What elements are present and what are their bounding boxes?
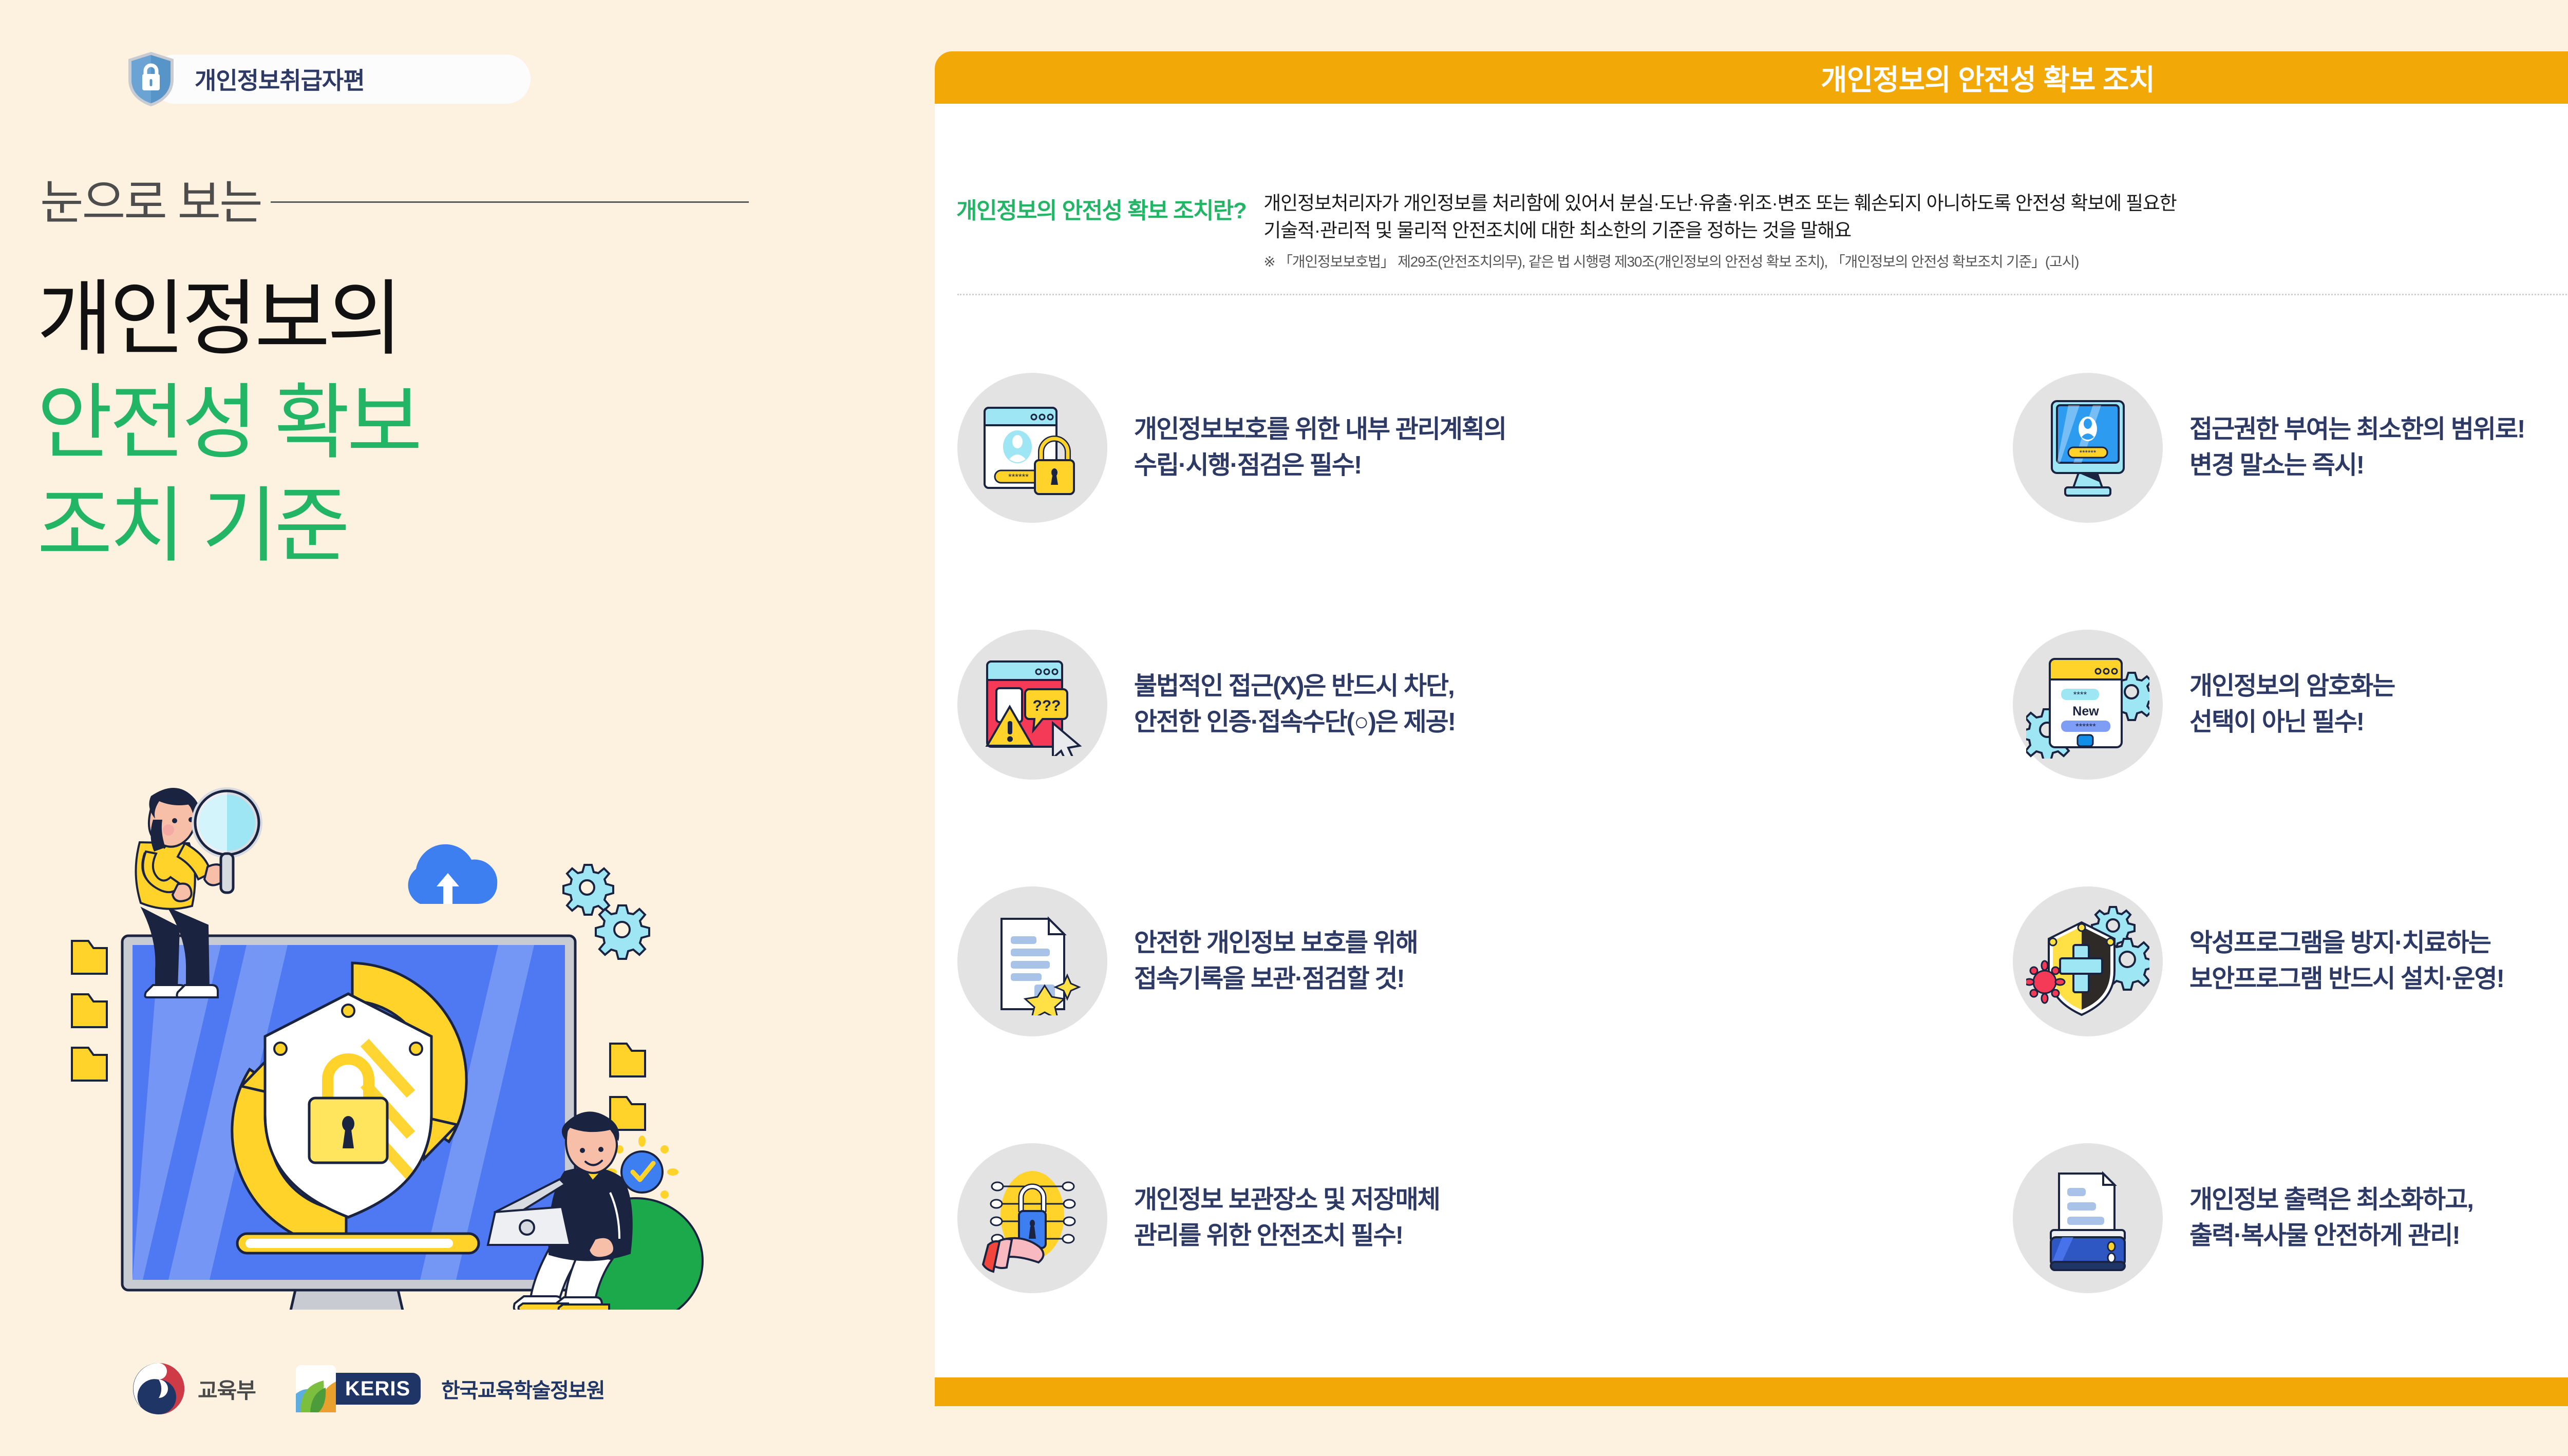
eyebrow-row: 눈으로 보는 <box>40 164 749 233</box>
measures-grid: ****** 개인정보보호를 위한 내부 관리계획의 수립·시행·점검은 필수! <box>955 319 2568 1347</box>
measure-item: 개인정보 출력은 최소화하고, 출력·복사물 안전하게 관리! <box>2011 1090 2568 1347</box>
svg-text:******: ****** <box>1008 472 1029 482</box>
browser-user-password-lock-icon: ****** <box>955 371 1109 525</box>
title-line-3: 조치 기준 <box>37 474 807 578</box>
measure-text: 개인정보 보관장소 및 저장매체 관리를 위한 안전조치 필수! <box>1134 1183 1440 1253</box>
measure-line-1: 개인정보의 암호화는 <box>2189 669 2394 704</box>
content-panel: 개인정보의 안전성 확보 조치 개인정보의 안전성 확보 조치란? 개인정보처리… <box>935 51 2568 1428</box>
eyebrow-text: 눈으로 보는 <box>40 164 261 233</box>
ministry-of-education-logo: 교육부 <box>131 1361 256 1416</box>
measure-line-1: 개인정보보호를 위한 내부 관리계획의 <box>1134 412 1506 447</box>
taegeuk-icon <box>131 1361 186 1416</box>
measure-item: ****** 접근권한 부여는 최소한의 범위로! 변경 말소는 즉시! <box>2011 319 2568 576</box>
svg-text:New: New <box>2072 704 2099 718</box>
shield-lock-icon <box>126 50 176 108</box>
intro-line-2: 기술적·관리적 및 물리적 안전조치에 대한 최소한의 기준을 정하는 것을 말… <box>1263 217 2568 244</box>
measure-line-1: 악성프로그램을 방지·치료하는 <box>2189 926 2504 961</box>
intro-divider <box>957 294 2568 295</box>
measure-line-2: 접속기록을 보관·점검할 것! <box>1134 962 1418 997</box>
intro-line-1: 개인정보처리자가 개인정보를 처리함에 있어서 분실·도난·유출·위조·변조 또… <box>1263 190 2568 217</box>
measure-item: 개인정보 보관장소 및 저장매체 관리를 위한 안전조치 필수! <box>955 1090 1965 1347</box>
infographic-page: 개인정보취급자편 눈으로 보는 개인정보의 안전성 확보 조치 기준 <box>0 0 2568 1456</box>
shield-virus-gear-icon <box>2011 884 2165 1038</box>
page-title: 개인정보의 안전성 확보 조치 기준 <box>37 267 807 578</box>
intro-question-label: 개인정보의 안전성 확보 조치란? <box>956 190 1246 225</box>
measure-line-2: 안전한 인증·접속수단(○)은 제공! <box>1134 705 1455 740</box>
measure-line-1: 안전한 개인정보 보호를 위해 <box>1134 926 1418 961</box>
measure-text: 악성프로그램을 방지·치료하는 보안프로그램 반드시 설치·운영! <box>2189 926 2504 996</box>
ministry-of-education-label: 교육부 <box>198 1373 256 1405</box>
keris-caption: 한국교육학술정보원 <box>441 1374 605 1404</box>
svg-text:******: ****** <box>2080 448 2097 457</box>
measure-line-2: 보안프로그램 반드시 설치·운영! <box>2189 962 2504 997</box>
measure-item: **** New ****** 개인정보의 암호화는 선택이 아닌 필수! <box>2011 576 2568 833</box>
measure-text: 개인정보보호를 위한 내부 관리계획의 수립·시행·점검은 필수! <box>1134 412 1506 483</box>
audience-badge: 개인정보취급자편 <box>126 50 365 108</box>
measure-line-2: 관리를 위한 안전조치 필수! <box>1134 1219 1440 1254</box>
desktop-monitor-user-password-icon: ****** <box>2011 371 2165 525</box>
eyebrow-rule <box>271 201 749 203</box>
svg-text:******: ****** <box>2075 722 2096 731</box>
panel-header: 개인정보의 안전성 확보 조치 <box>935 51 2568 104</box>
panel-title: 개인정보의 안전성 확보 조치 <box>1821 57 2155 99</box>
measure-line-1: 개인정보 출력은 최소화하고, <box>2189 1183 2473 1218</box>
measure-line-1: 개인정보 보관장소 및 저장매체 <box>1134 1183 1440 1218</box>
intro-legal-note: ※ 「개인정보보호법」 제29조(안전조치의무), 같은 법 시행령 제30조(… <box>1263 252 2568 272</box>
measure-line-2: 수립·시행·점검은 필수! <box>1134 448 1506 483</box>
measure-item: 안전한 개인정보 보호를 위해 접속기록을 보관·점검할 것! <box>955 833 1965 1090</box>
svg-text:****: **** <box>2073 690 2087 699</box>
measure-item: 악성프로그램을 방지·치료하는 보안프로그램 반드시 설치·운영! <box>2011 833 2568 1090</box>
measure-text: 안전한 개인정보 보호를 위해 접속기록을 보관·점검할 것! <box>1134 926 1418 996</box>
panel-footer-bar <box>935 1377 2568 1406</box>
printer-document-output-icon <box>2011 1141 2165 1295</box>
measure-text: 개인정보 출력은 최소화하고, 출력·복사물 안전하게 관리! <box>2189 1183 2473 1253</box>
browser-warning-alert-cursor-icon: ??? <box>955 628 1109 782</box>
keris-mark: KERIS <box>336 1373 421 1405</box>
svg-text:???: ??? <box>1033 697 1061 714</box>
measure-item: ??? 불법적인 접근(X)은 반드시 차단, 안전한 인증·접속수단(○)은 … <box>955 576 1965 833</box>
document-record-star-icon <box>955 884 1109 1038</box>
title-line-1: 개인정보의 <box>37 267 807 371</box>
intro-definition: 개인정보의 안전성 확보 조치란? 개인정보처리자가 개인정보를 처리함에 있어… <box>956 190 2568 272</box>
keris-logo: KERIS 한국교육학술정보원 <box>296 1365 605 1412</box>
measure-line-1: 접근권한 부여는 최소한의 범위로! <box>2189 412 2524 447</box>
measure-line-2: 출력·복사물 안전하게 관리! <box>2189 1219 2473 1254</box>
panel-body: 개인정보의 안전성 확보 조치란? 개인정보처리자가 개인정보를 처리함에 있어… <box>935 104 2568 1377</box>
measure-line-1: 불법적인 접근(X)은 반드시 차단, <box>1134 669 1455 704</box>
measure-item: ****** 개인정보보호를 위한 내부 관리계획의 수립·시행·점검은 필수! <box>955 319 1965 576</box>
title-line-2: 안전성 확보 <box>37 371 807 475</box>
keris-leaf-icon <box>296 1365 336 1412</box>
hand-holding-padlock-icon <box>955 1141 1109 1295</box>
intro-body: 개인정보처리자가 개인정보를 처리함에 있어서 분실·도난·유출·위조·변조 또… <box>1263 190 2568 272</box>
footer-logos: 교육부 KERIS 한국교육학술정보원 <box>131 1361 605 1416</box>
badge-label: 개인정보취급자편 <box>195 62 365 96</box>
password-change-gears-icon: **** New ****** <box>2011 628 2165 782</box>
measure-text: 불법적인 접근(X)은 반드시 차단, 안전한 인증·접속수단(○)은 제공! <box>1134 669 1455 740</box>
monitor-shield-lock-illustration <box>5 704 806 1310</box>
left-cover-panel: 개인정보취급자편 눈으로 보는 개인정보의 안전성 확보 조치 기준 <box>0 0 924 1456</box>
measure-line-2: 변경 말소는 즉시! <box>2189 448 2524 483</box>
measure-text: 접근권한 부여는 최소한의 범위로! 변경 말소는 즉시! <box>2189 412 2524 483</box>
measure-line-2: 선택이 아닌 필수! <box>2189 705 2394 740</box>
measure-text: 개인정보의 암호화는 선택이 아닌 필수! <box>2189 669 2394 740</box>
